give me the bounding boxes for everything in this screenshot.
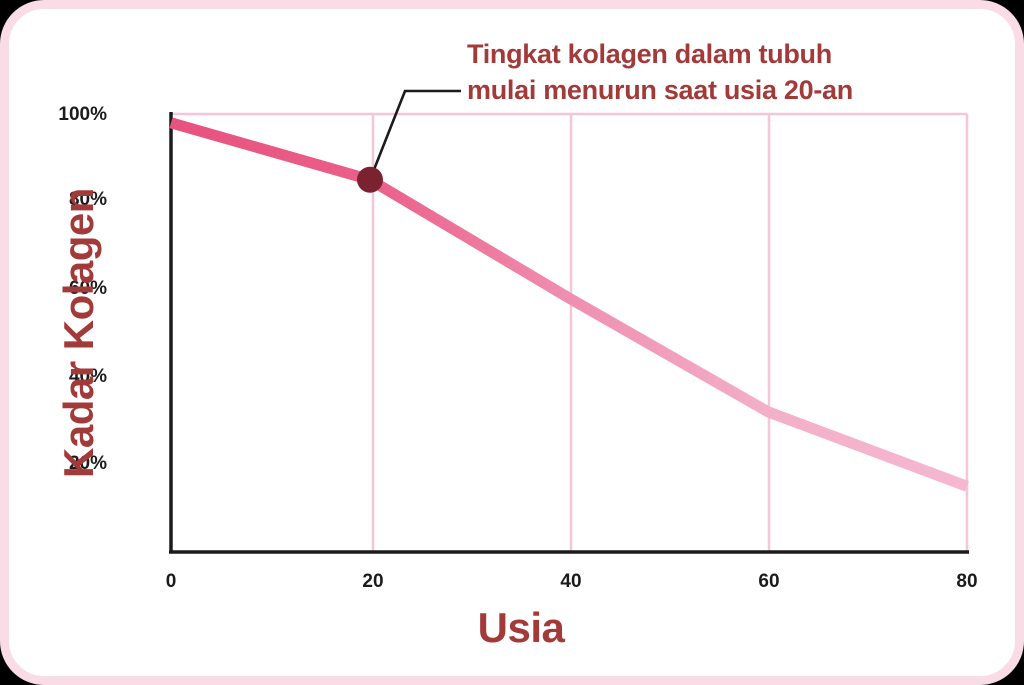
y-tick-label-100: 100% xyxy=(37,104,107,126)
axis-lines xyxy=(169,112,969,553)
chart-card: Tingkat kolagen dalam tubuh mulai menuru… xyxy=(0,0,1024,685)
x-tick-label-40: 40 xyxy=(541,571,601,593)
x-tick-label-80: 80 xyxy=(937,571,997,593)
x-axis-title: Usia xyxy=(9,604,1024,652)
annotation-leader-line xyxy=(370,91,461,180)
annotation-line-2: mulai menurun saat usia 20-an xyxy=(467,73,987,109)
x-tick-label-0: 0 xyxy=(141,571,201,593)
collagen-level-line xyxy=(171,123,967,487)
annotation-text: Tingkat kolagen dalam tubuh mulai menuru… xyxy=(467,37,987,108)
chart-area: Tingkat kolagen dalam tubuh mulai menuru… xyxy=(9,9,1024,685)
annotation-line-1: Tingkat kolagen dalam tubuh xyxy=(467,37,987,73)
x-tick-label-20: 20 xyxy=(343,571,403,593)
data-point-marker-age-20[interactable] xyxy=(357,167,383,193)
gridlines xyxy=(171,114,967,552)
y-axis-title: Kadar Kolagen xyxy=(55,173,103,493)
leader-line-path xyxy=(370,91,461,180)
x-tick-label-60: 60 xyxy=(739,571,799,593)
